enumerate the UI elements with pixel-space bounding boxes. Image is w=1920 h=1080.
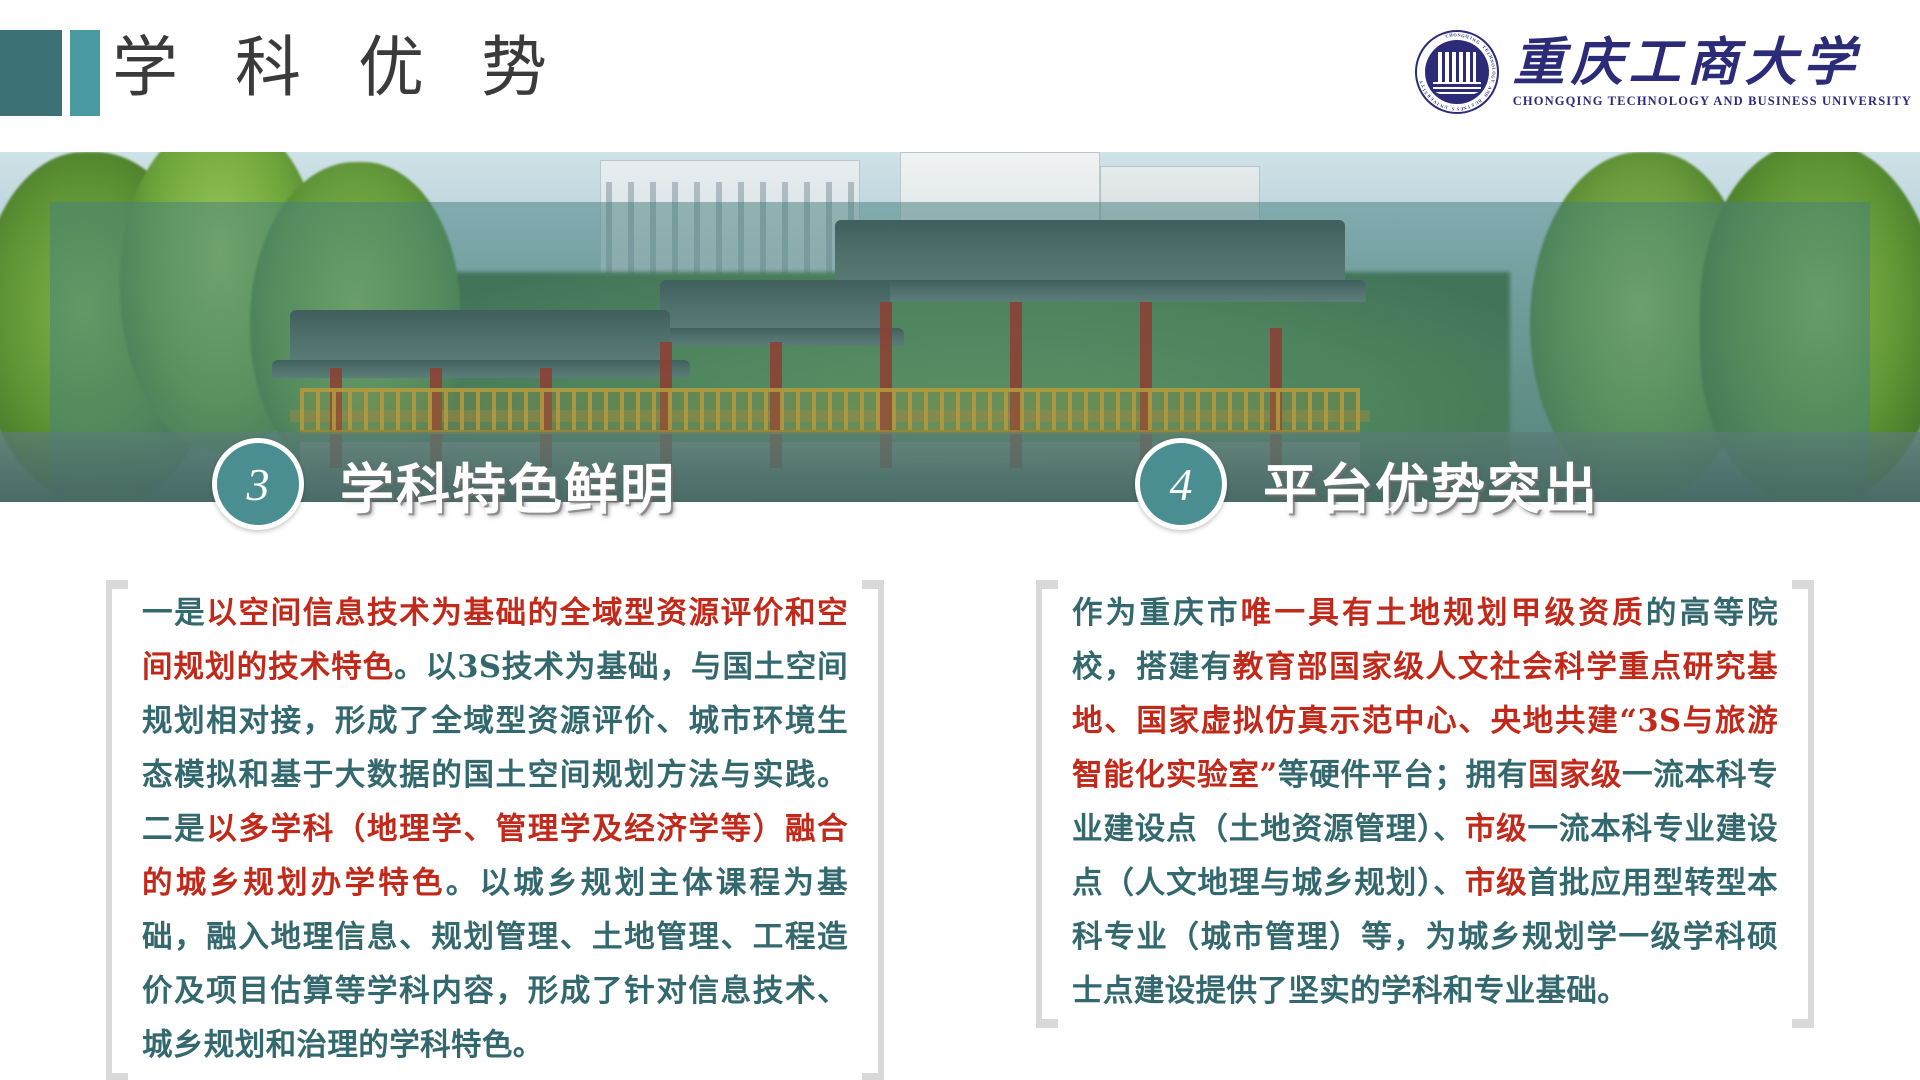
highlight-text: 市级: [1465, 865, 1528, 901]
seal-core: [1425, 40, 1489, 104]
highlight-text: 唯一具有土地规划甲级资质: [1241, 595, 1646, 631]
section-number-badge-4: 4: [1135, 438, 1227, 530]
slide-root: 学 科 优 势 CHONGQING TECHNOLOGY AND BUSINES…: [0, 0, 1920, 1080]
text-column-right: 作为重庆市唯一具有土地规划甲级资质的高等院校，搭建有教育部国家级人文社会科学重点…: [1030, 580, 1820, 1028]
bracket-close-icon: [862, 580, 884, 1080]
body-text: 等硬件平台；拥有: [1278, 757, 1529, 793]
seal-ring-letter: O: [1490, 63, 1496, 67]
slide-header: 学 科 优 势 CHONGQING TECHNOLOGY AND BUSINES…: [0, 0, 1920, 152]
highlight-text: 国家级: [1528, 757, 1622, 793]
pavilion-roof-main-eave: [818, 280, 1366, 302]
header-accent-bar-dark: [0, 30, 62, 116]
seal-ring-letter: G: [1475, 39, 1481, 45]
university-name-en: CHONGQING TECHNOLOGY AND BUSINESS UNIVER…: [1513, 95, 1912, 108]
university-logo: CHONGQING TECHNOLOGY AND BUSINESS UNIVER…: [1415, 22, 1912, 122]
section-heading-3: 3 学科特色鲜明: [212, 438, 676, 530]
page-title: 学 科 优 势: [112, 20, 565, 116]
body-text: 一是: [142, 595, 206, 631]
highlight-text: 市级: [1465, 811, 1528, 847]
bracket-open-icon: [1036, 580, 1058, 1028]
seal-book-icon: [1438, 52, 1476, 82]
bracket-frame-right: 作为重庆市唯一具有土地规划甲级资质的高等院校，搭建有教育部国家级人文社会科学重点…: [1030, 580, 1820, 1028]
seal-ring-letter: L: [1491, 67, 1496, 70]
section-heading-4: 4 平台优势突出: [1135, 438, 1599, 530]
paragraph-section-3: 一是以空间信息技术为基础的全域型资源评价和空间规划的技术特色。以3S技术为基础，…: [142, 586, 848, 1072]
seal-ring-letter: I: [1468, 104, 1471, 109]
seal-ring-letter: Y: [1490, 79, 1496, 83]
seal-ring-letter: E: [1460, 106, 1464, 111]
text-column-left: 一是以空间信息技术为基础的全域型资源评价和空间规划的技术特色。以3S技术为基础，…: [100, 580, 890, 1080]
pavilion-railing: [300, 388, 1360, 434]
bracket-frame-left: 一是以空间信息技术为基础的全域型资源评价和空间规划的技术特色。以3S技术为基础，…: [100, 580, 890, 1080]
header-accent-bar-light: [70, 30, 100, 116]
university-seal-icon: CHONGQING TECHNOLOGY AND BUSINESS UNIVER…: [1415, 30, 1499, 114]
paragraph-section-4: 作为重庆市唯一具有土地规划甲级资质的高等院校，搭建有教育部国家级人文社会科学重点…: [1072, 586, 1778, 1018]
university-name-cn: 重庆工商大学: [1513, 37, 1912, 89]
university-name-block: 重庆工商大学 CHONGQING TECHNOLOGY AND BUSINESS…: [1513, 37, 1912, 108]
section-title-4: 平台优势突出: [1263, 445, 1599, 524]
seal-ring-letter: S: [1456, 106, 1459, 111]
bracket-close-icon: [1792, 580, 1814, 1028]
section-title-3: 学科特色鲜明: [340, 445, 676, 524]
seal-ring-letter: O: [1491, 71, 1496, 75]
seal-wave-icon: [1433, 82, 1481, 96]
seal-ring-letter: S: [1452, 106, 1455, 111]
section-number-badge-3: 3: [212, 438, 304, 530]
body-text: 作为重庆市: [1072, 595, 1241, 631]
bracket-open-icon: [106, 580, 128, 1080]
